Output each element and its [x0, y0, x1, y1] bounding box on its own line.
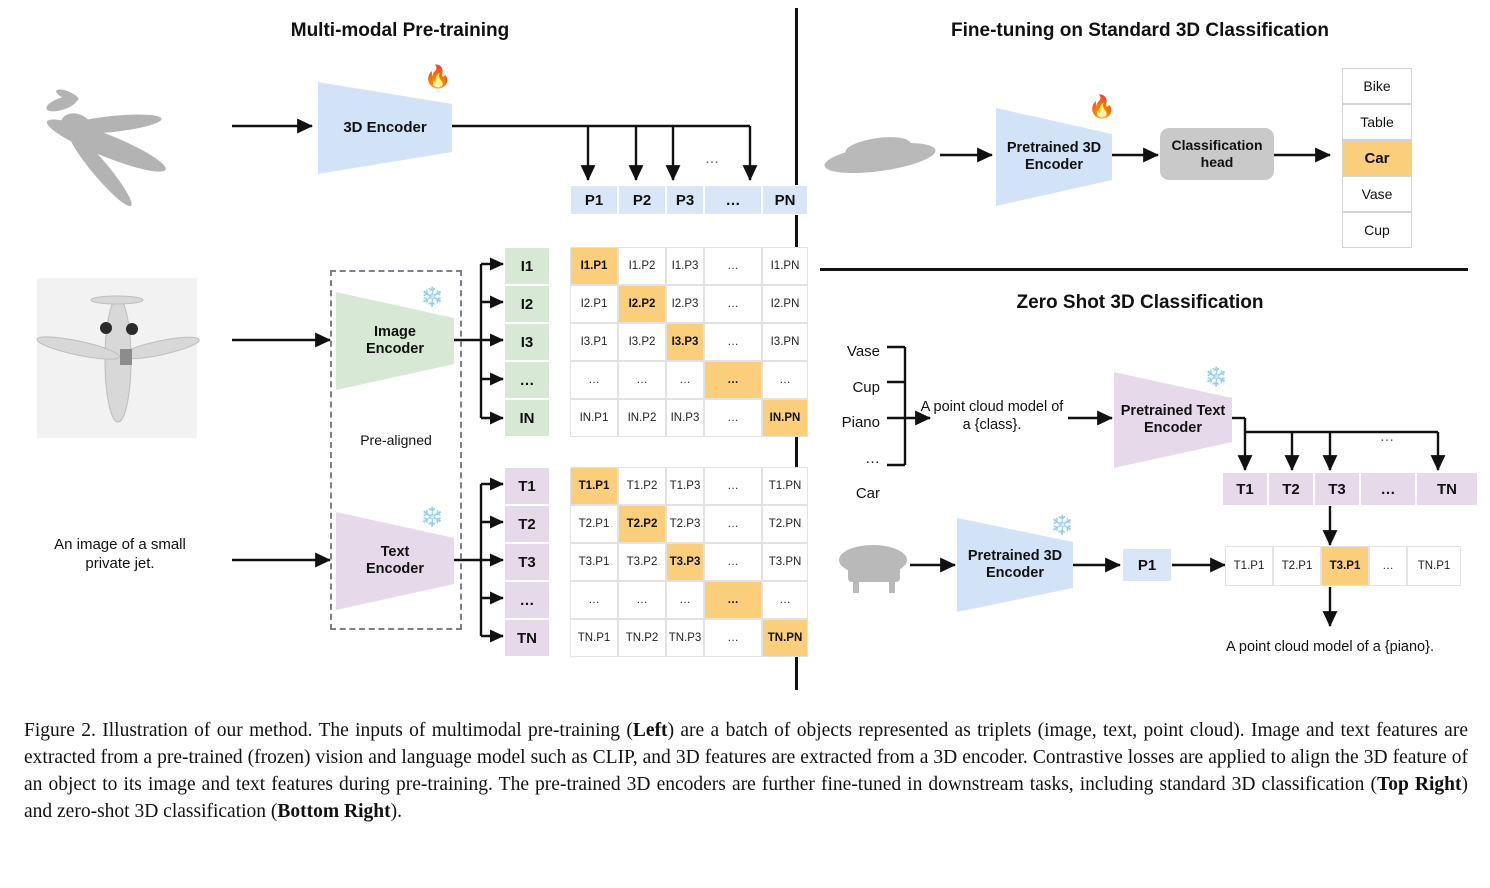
classification-head[interactable]: Classification head	[1160, 128, 1274, 180]
matrix-row: ……………	[570, 581, 808, 619]
image-feature-column: I1I2I3…IN	[504, 247, 550, 437]
text-feature-cell: TN	[504, 619, 550, 657]
figure-caption: Figure 2. Illustration of our method. Th…	[24, 718, 1468, 826]
text-matrix-cell: T1.PN	[762, 467, 808, 505]
text-matrix-cell: T3.PN	[762, 543, 808, 581]
zeroshot-text-feature-cell: …	[1360, 472, 1416, 506]
text-matrix-cell: …	[704, 467, 762, 505]
text-matrix-cell: T2.P3	[666, 505, 704, 543]
airplane-point-cloud	[18, 69, 185, 219]
classification-head-l1: Classification	[1171, 137, 1262, 153]
panel-title-left: Multi-modal Pre-training	[190, 20, 610, 42]
encoder-image-label-l1: Image	[374, 324, 416, 340]
zeroshot-similarity-cell: TN.P1	[1407, 546, 1461, 586]
point-feature-cell: …	[704, 185, 762, 215]
panel-title-bottom-right: Zero Shot 3D Classification	[850, 292, 1430, 314]
point-feature-cell: P3	[666, 185, 704, 215]
text-feature-cell: T3	[504, 543, 550, 581]
caption-text: Figure 2. Illustration of our method. Th…	[24, 720, 633, 741]
text-matrix-cell: TN.P3	[666, 619, 704, 657]
text-matrix-cell: T2.PN	[762, 505, 808, 543]
zeroshot-class-item: Piano	[818, 405, 884, 441]
class-option[interactable]: Table	[1342, 104, 1412, 140]
text-matrix-cell: TN.P2	[618, 619, 666, 657]
text-matrix-cell: TN.P1	[570, 619, 618, 657]
image-matrix-cell: …	[618, 361, 666, 399]
text-feature-cell: T1	[504, 467, 550, 505]
matrix-row: T2.P1T2.P2T2.P3…T2.PN	[570, 505, 808, 543]
class-option[interactable]: Cup	[1342, 212, 1412, 248]
class-option[interactable]: Vase	[1342, 176, 1412, 212]
panel-title-top-right: Fine-tuning on Standard 3D Classificatio…	[850, 20, 1430, 42]
zeroshot-text-feature-cell: T2	[1268, 472, 1314, 506]
image-feature-cell: IN	[504, 399, 550, 437]
zeroshot-similarity-cell: T3.P1	[1321, 546, 1369, 586]
class-option[interactable]: Bike	[1342, 68, 1412, 104]
zeroshot-class-item: Car	[818, 476, 884, 512]
text-matrix-cell: …	[570, 581, 618, 619]
image-feature-cell: …	[504, 361, 550, 399]
car-point-cloud	[823, 134, 938, 179]
image-matrix-cell: …	[704, 323, 762, 361]
zeroshot-pc-encoder-l1: Pretrained 3D	[968, 548, 1062, 564]
matrix-row: IN.P1IN.P2IN.P3…IN.PN	[570, 399, 808, 437]
zeroshot-pc-encoder-l2: Encoder	[986, 565, 1044, 581]
encoder-3d-label: 3D Encoder	[343, 119, 426, 137]
text-matrix-cell: …	[666, 581, 704, 619]
caption-text: ).	[391, 801, 402, 822]
image-matrix-cell: I2.P1	[570, 285, 618, 323]
matrix-row: I3.P1I3.P2I3.P3…I3.PN	[570, 323, 808, 361]
horizontal-divider	[820, 268, 1468, 271]
zeroshot-text-feature-cell: TN	[1416, 472, 1478, 506]
encoder-text-label-l2: Encoder	[366, 561, 424, 577]
matrix-row: I1.P1I1.P2I1.P3…I1.PN	[570, 247, 808, 285]
encoder-3d[interactable]: 3D Encoder	[318, 82, 452, 174]
text-matrix-cell: T3.P1	[570, 543, 618, 581]
zeroshot-class-list: VaseCupPiano…Car	[818, 334, 884, 512]
point-row-ellipsis: …	[700, 150, 724, 168]
zeroshot-text-encoder-l1: Pretrained Text	[1121, 403, 1226, 419]
image-matrix-cell: …	[704, 285, 762, 323]
text-matrix-cell: T3.P3	[666, 543, 704, 581]
image-feature-cell: I2	[504, 285, 550, 323]
image-matrix-cell: I1.P1	[570, 247, 618, 285]
encoder-text[interactable]: Text Encoder	[336, 512, 454, 610]
image-matrix-cell: I2.P2	[618, 285, 666, 323]
text-input-caption: An image of a small private jet.	[30, 536, 210, 574]
zeroshot-prompt-l2: a {class}.	[963, 417, 1022, 433]
image-matrix-cell: I2.P3	[666, 285, 704, 323]
text-feature-cell: T2	[504, 505, 550, 543]
image-similarity-matrix: I1.P1I1.P2I1.P3…I1.PNI2.P1I2.P2I2.P3…I2.…	[570, 247, 808, 437]
text-matrix-cell: T1.P2	[618, 467, 666, 505]
zeroshot-text-feature-row: T1T2T3…TN	[1222, 472, 1478, 506]
zeroshot-text-row-ellipsis: …	[1375, 428, 1399, 446]
image-matrix-cell: I1.P3	[666, 247, 704, 285]
image-matrix-cell: I1.PN	[762, 247, 808, 285]
finetune-encoder-3d[interactable]: Pretrained 3D Encoder	[996, 108, 1112, 206]
point-feature-cell: P2	[618, 185, 666, 215]
matrix-row: I2.P1I2.P2I2.P3…I2.PN	[570, 285, 808, 323]
finetune-encoder-label-l1: Pretrained 3D	[1007, 140, 1101, 156]
caption-emphasis: Top Right	[1377, 774, 1461, 795]
image-matrix-cell: I2.PN	[762, 285, 808, 323]
zeroshot-prompt: A point cloud model of a {class}.	[916, 398, 1068, 434]
text-matrix-cell: …	[704, 619, 762, 657]
image-matrix-cell: I3.P2	[618, 323, 666, 361]
text-matrix-cell: …	[618, 581, 666, 619]
text-matrix-cell: …	[762, 581, 808, 619]
zeroshot-pc-encoder[interactable]: Pretrained 3D Encoder	[957, 518, 1073, 612]
image-matrix-cell: …	[666, 361, 704, 399]
encoder-text-label-l1: Text	[381, 544, 410, 560]
zeroshot-class-item: …	[818, 441, 884, 477]
image-feature-cell: I3	[504, 323, 550, 361]
image-matrix-cell: I3.P1	[570, 323, 618, 361]
point-feature-row: P1P2P3…PN	[570, 185, 808, 215]
zeroshot-class-item: Vase	[818, 334, 884, 370]
class-option-predicted[interactable]: Car	[1342, 140, 1412, 176]
text-matrix-cell: T1.P1	[570, 467, 618, 505]
image-matrix-cell: I3.PN	[762, 323, 808, 361]
image-matrix-cell: …	[704, 247, 762, 285]
zeroshot-text-encoder[interactable]: Pretrained Text Encoder	[1114, 372, 1232, 468]
piano-point-cloud	[839, 545, 907, 593]
matrix-row: T3.P1T3.P2T3.P3…T3.PN	[570, 543, 808, 581]
text-feature-column: T1T2T3…TN	[504, 467, 550, 657]
caption-emphasis: Left	[633, 720, 668, 741]
text-input-line1: An image of a small	[54, 536, 186, 553]
text-matrix-cell: T1.P3	[666, 467, 704, 505]
image-matrix-cell: I3.P3	[666, 323, 704, 361]
zeroshot-class-item: Cup	[818, 370, 884, 406]
class-list-finetune: BikeTableCarVaseCup	[1342, 68, 1412, 248]
zeroshot-prompt-l1: A point cloud model of	[921, 399, 1064, 415]
image-matrix-cell: …	[762, 361, 808, 399]
figure-root: Multi-modal Pre-training Fine-tuning on …	[0, 0, 1490, 888]
image-matrix-cell: …	[704, 399, 762, 437]
text-matrix-cell: T3.P2	[618, 543, 666, 581]
point-feature-cell: P1	[570, 185, 618, 215]
encoder-image[interactable]: Image Encoder	[336, 292, 454, 390]
image-matrix-cell: …	[704, 361, 762, 399]
text-matrix-cell: …	[704, 581, 762, 619]
image-matrix-cell: …	[570, 361, 618, 399]
prealigned-label: Pre-aligned	[330, 432, 462, 450]
text-matrix-cell: T2.P1	[570, 505, 618, 543]
zeroshot-text-feature-cell: T3	[1314, 472, 1360, 506]
zeroshot-text-feature-cell: T1	[1222, 472, 1268, 506]
finetune-encoder-label-l2: Encoder	[1025, 157, 1083, 173]
image-matrix-cell: IN.P2	[618, 399, 666, 437]
text-similarity-matrix: T1.P1T1.P2T1.P3…T1.PNT2.P1T2.P2T2.P3…T2.…	[570, 467, 808, 657]
zeroshot-similarity-cell: T1.P1	[1225, 546, 1273, 586]
image-matrix-cell: I1.P2	[618, 247, 666, 285]
point-feature-cell: PN	[762, 185, 808, 215]
matrix-row: T1.P1T1.P2T1.P3…T1.PN	[570, 467, 808, 505]
text-matrix-cell: TN.PN	[762, 619, 808, 657]
zeroshot-similarity-cell: T2.P1	[1273, 546, 1321, 586]
matrix-row: ……………	[570, 361, 808, 399]
image-matrix-cell: IN.PN	[762, 399, 808, 437]
zeroshot-similarity-row: T1.P1T2.P1T3.P1…TN.P1	[1225, 546, 1461, 586]
image-matrix-cell: IN.P3	[666, 399, 704, 437]
encoder-image-label-l2: Encoder	[366, 341, 424, 357]
matrix-row: TN.P1TN.P2TN.P3…TN.PN	[570, 619, 808, 657]
zeroshot-point-feature: P1	[1122, 548, 1172, 582]
zeroshot-text-encoder-l2: Encoder	[1144, 420, 1202, 436]
classification-head-l2: head	[1201, 154, 1234, 170]
image-feature-cell: I1	[504, 247, 550, 285]
airplane-render-image	[35, 278, 200, 438]
text-input-line2: private jet.	[85, 555, 154, 572]
caption-emphasis: Bottom Right	[277, 801, 390, 822]
zeroshot-result-text: A point cloud model of a {piano}.	[1185, 638, 1475, 656]
zeroshot-similarity-cell: …	[1369, 546, 1407, 586]
image-matrix-cell: IN.P1	[570, 399, 618, 437]
text-matrix-cell: T2.P2	[618, 505, 666, 543]
text-matrix-cell: …	[704, 543, 762, 581]
text-feature-cell: …	[504, 581, 550, 619]
text-matrix-cell: …	[704, 505, 762, 543]
